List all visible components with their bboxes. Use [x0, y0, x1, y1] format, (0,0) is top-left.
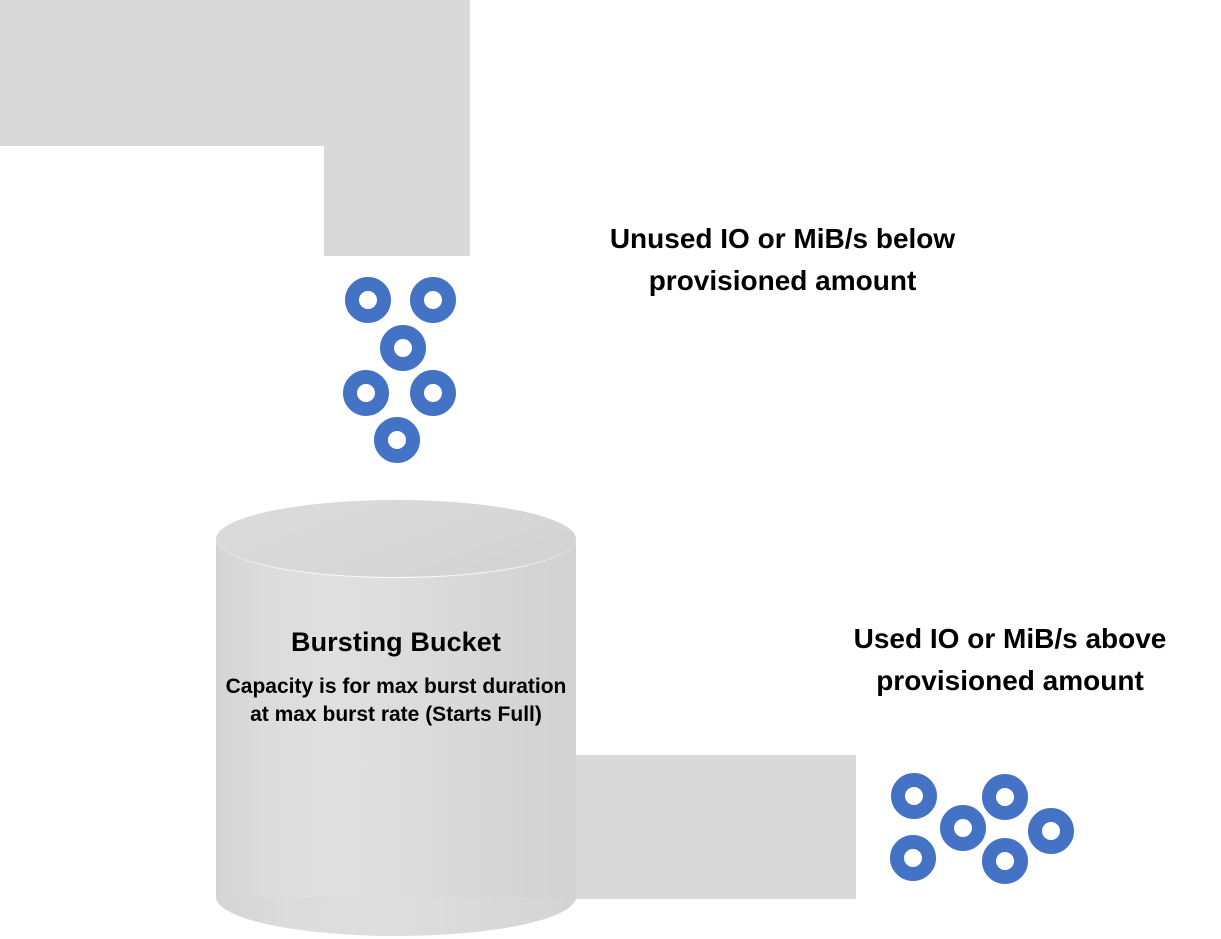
io-token-ring-icon — [343, 370, 389, 416]
caption-used-io: Used IO or MiB/s above provisioned amoun… — [800, 618, 1220, 702]
inflow-pipe-vertical — [324, 140, 470, 256]
io-token-ring-icon — [940, 805, 986, 851]
io-token-ring-icon — [410, 370, 456, 416]
caption-unused-io: Unused IO or MiB/s below provisioned amo… — [543, 218, 1022, 302]
inflow-token-group — [330, 265, 475, 470]
outflow-token-group — [875, 750, 1100, 900]
bucket-title: Bursting Bucket — [216, 625, 576, 659]
io-token-ring-icon — [982, 838, 1028, 884]
io-token-ring-icon — [374, 417, 420, 463]
bucket-subtitle: Capacity is for max burst duration at ma… — [216, 673, 576, 729]
inflow-pipe-horizontal — [0, 0, 470, 146]
io-token-ring-icon — [380, 325, 426, 371]
io-token-ring-icon — [891, 773, 937, 819]
diagram-canvas: Bursting Bucket Capacity is for max burs… — [0, 0, 1221, 939]
io-token-ring-icon — [982, 774, 1028, 820]
io-token-ring-icon — [345, 277, 391, 323]
bucket-label-group: Bursting Bucket Capacity is for max burs… — [216, 625, 576, 729]
io-token-ring-icon — [410, 277, 456, 323]
bursting-bucket-cylinder: Bursting Bucket Capacity is for max burs… — [216, 500, 576, 936]
io-token-ring-icon — [1028, 808, 1074, 854]
bucket-top-cap — [216, 500, 576, 578]
io-token-ring-icon — [890, 835, 936, 881]
